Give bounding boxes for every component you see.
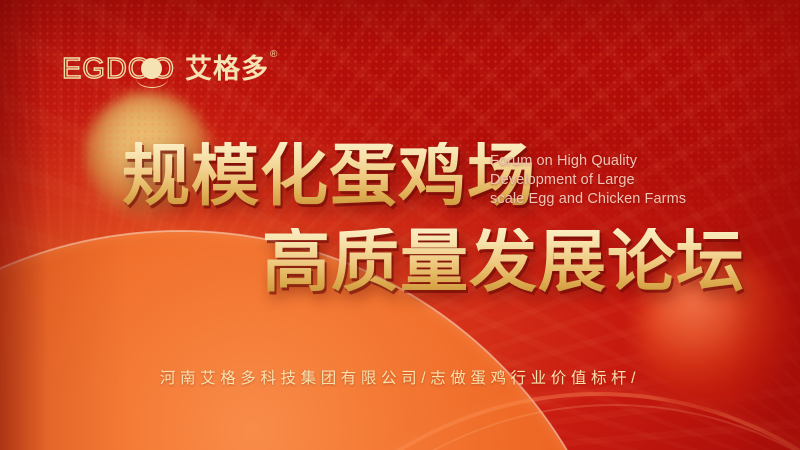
company-slogan: 志做蛋鸡行业价值标杆 xyxy=(430,370,631,387)
english-subtitle: Forum on High Quality Development of Lar… xyxy=(490,152,686,209)
english-subtitle-line-2: Development of Large xyxy=(490,171,686,190)
headline-line-1: 规模化蛋鸡场 xyxy=(122,142,536,210)
tagline-separator-1: / xyxy=(421,370,430,387)
footer-tagline: 河南艾格多科技集团有限公司/志做蛋鸡行业价值标杆/ xyxy=(0,366,800,388)
english-subtitle-line-3: scale Egg and Chicken Farms xyxy=(490,190,686,209)
company-name: 河南艾格多科技集团有限公司 xyxy=(160,370,421,387)
event-banner: EGDOO 艾格多 ® 规模化蛋鸡场 高质量发展论坛 Forum on High… xyxy=(0,0,800,450)
english-subtitle-line-1: Forum on High Quality xyxy=(490,152,686,171)
tagline-separator-2: / xyxy=(631,370,640,387)
headline-line-2: 高质量发展论坛 xyxy=(262,228,745,296)
